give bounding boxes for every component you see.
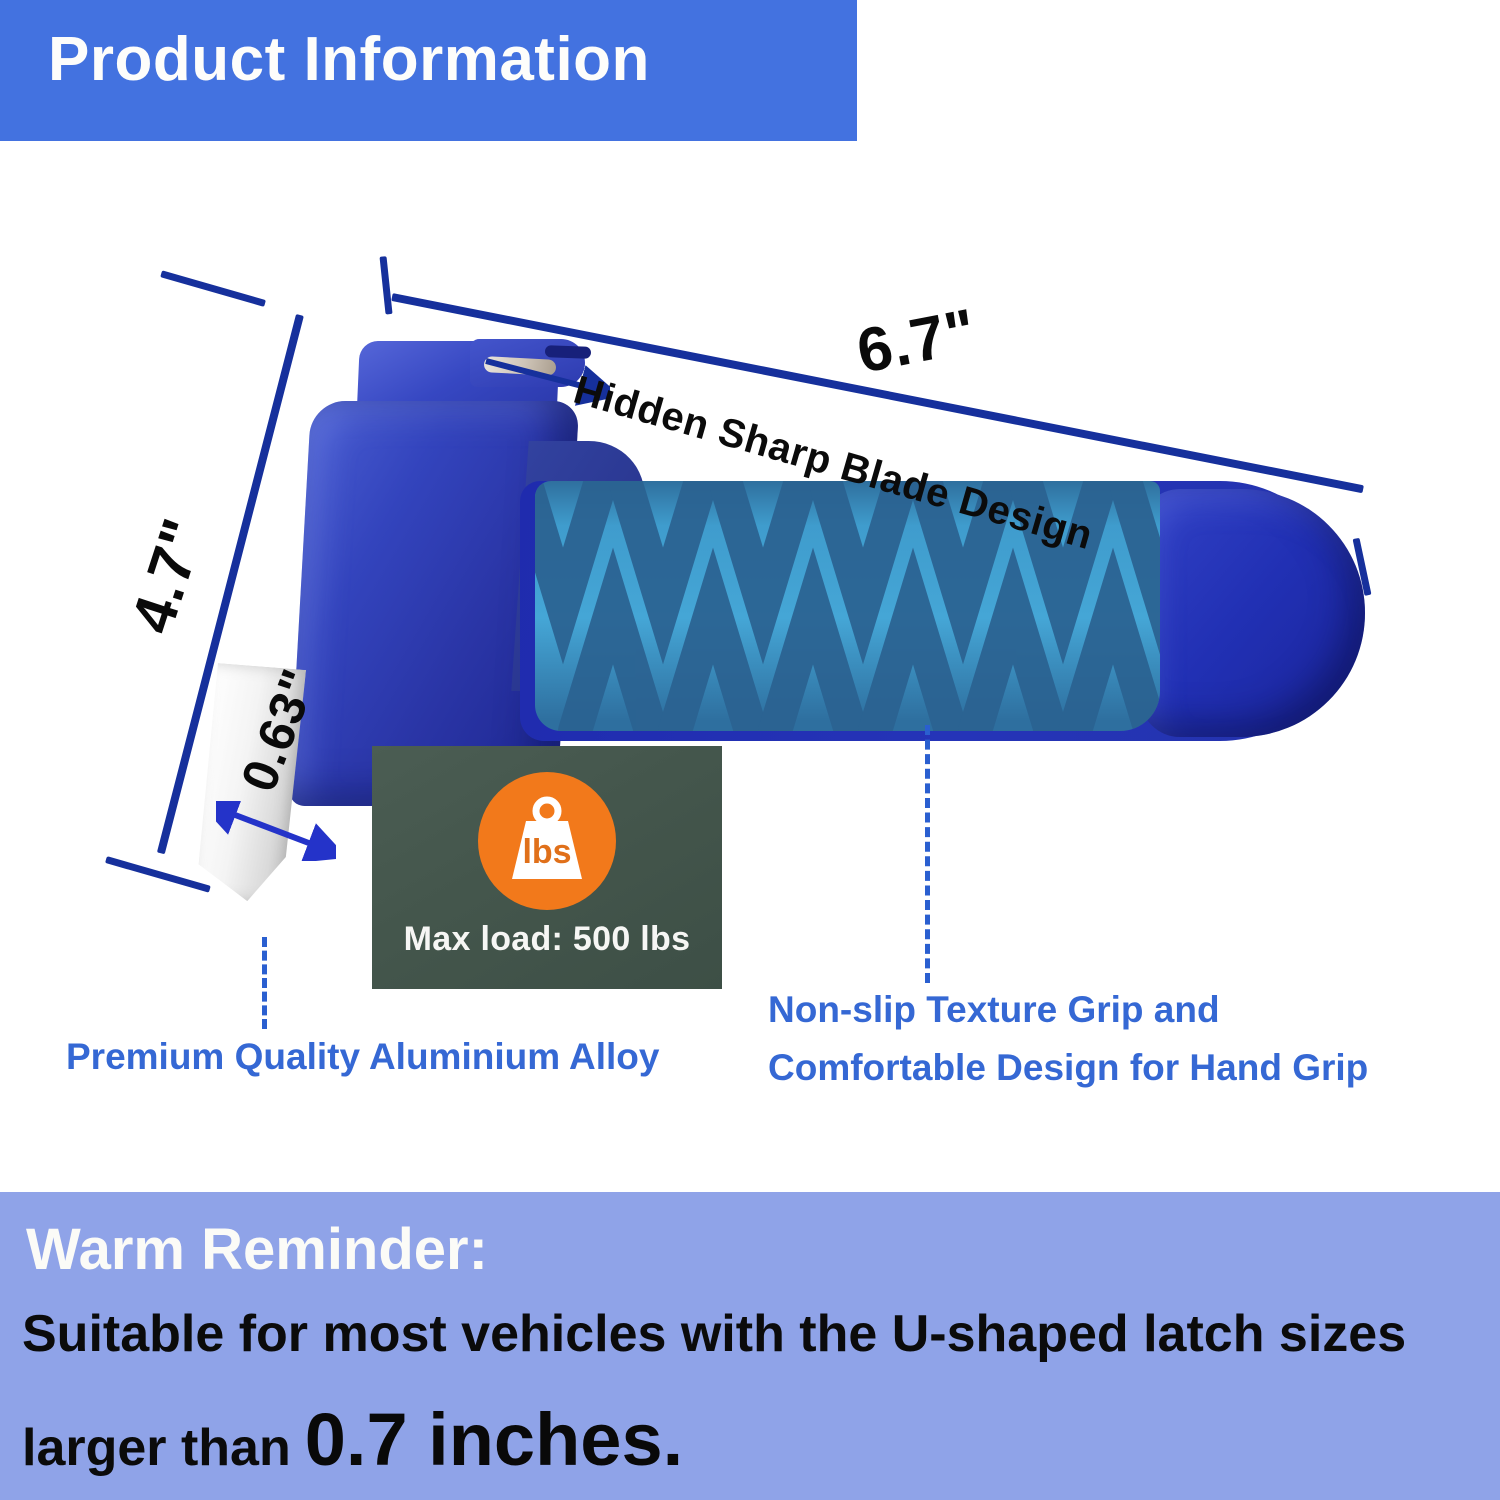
lbs-weight-glyph: lbs (499, 795, 595, 887)
product-illustration: 6.7" 4.7" 0.63" (0, 141, 1500, 1192)
handle-tail (1140, 489, 1365, 737)
caption-non-slip-grip: Non-slip Texture Grip and Comfortable De… (768, 981, 1388, 1097)
page-title: Product Information (48, 24, 650, 95)
dim-tick-length-left (380, 256, 393, 314)
reminder-emphasis: 0.7 inches. (305, 1397, 683, 1482)
caption-grip-line2: Comfortable Design for Hand Grip (768, 1039, 1388, 1097)
dimension-label-length: 6.7" (851, 295, 982, 388)
reminder-line1: Suitable for most vehicles with the U-sh… (22, 1304, 1406, 1364)
leader-grip (925, 725, 930, 983)
warm-reminder-panel: Warm Reminder: Suitable for most vehicle… (0, 1192, 1500, 1500)
dim-tick-height-top (160, 270, 266, 306)
svg-text:lbs: lbs (522, 833, 571, 871)
header-banner: Product Information (0, 0, 857, 141)
reminder-line2-prefix: larger than (22, 1418, 291, 1478)
dimension-label-height: 4.7" (117, 510, 218, 642)
weight-icon: lbs (478, 772, 616, 910)
max-load-badge: lbs Max load: 500 lbs (372, 746, 722, 989)
dimension-arrow-spike-width (216, 801, 336, 861)
leader-alloy (262, 937, 267, 1029)
dim-tick-height-bottom (105, 856, 211, 892)
reminder-line2: larger than 0.7 inches. (22, 1397, 683, 1482)
caption-aluminium-alloy: Premium Quality Aluminium Alloy (66, 1036, 659, 1078)
caption-grip-line1: Non-slip Texture Grip and (768, 981, 1388, 1039)
product-information-infographic: Product Information (0, 0, 1500, 1500)
reminder-title: Warm Reminder: (26, 1216, 488, 1283)
max-load-caption: Max load: 500 lbs (404, 920, 691, 959)
